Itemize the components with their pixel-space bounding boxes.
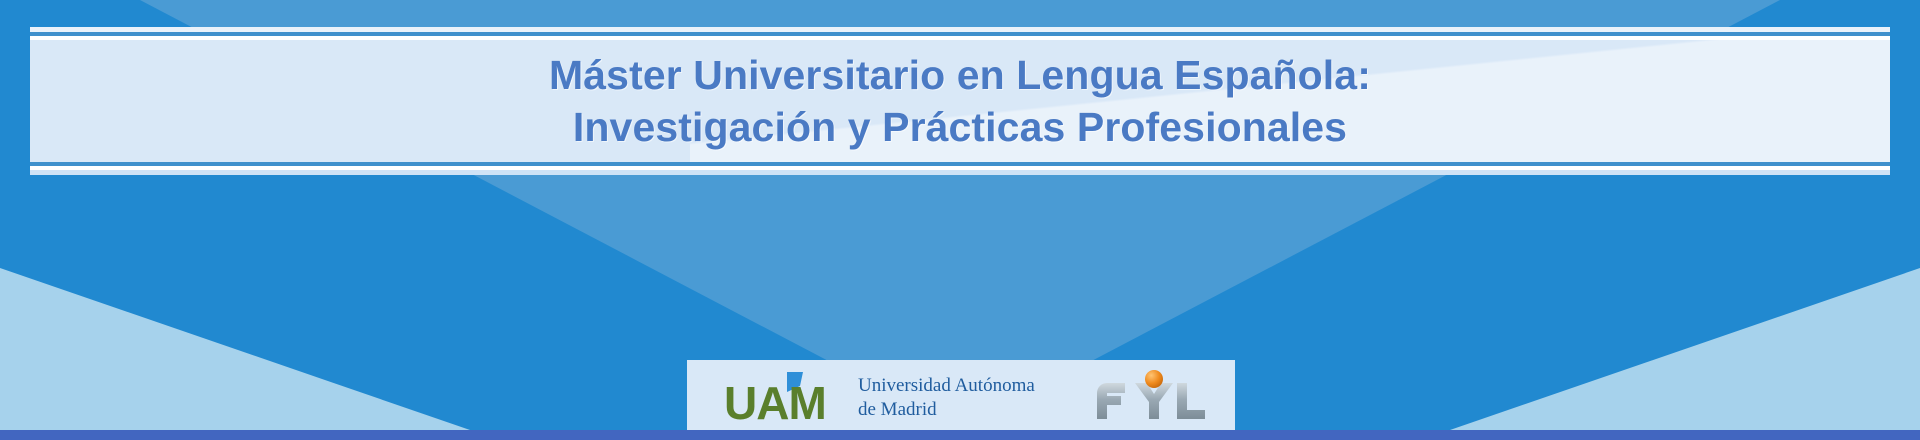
title-rule-bottom-outer <box>30 170 1890 175</box>
uam-letters: UAM <box>724 380 826 426</box>
uam-wordmark: Universidad Autónoma de Madrid <box>858 374 1035 420</box>
fyl-logo: FYL <box>1095 369 1207 427</box>
uam-logo: UAM Universidad Autónoma de Madrid <box>724 370 1035 426</box>
uam-logo-mark: UAM <box>724 370 848 426</box>
logo-plate: UAM Universidad Autónoma de Madrid <box>687 360 1235 435</box>
page-title: Máster Universitario en Lengua Española:… <box>549 49 1371 154</box>
bottom-accent-bar <box>0 430 1920 440</box>
title-slide: Máster Universitario en Lengua Española:… <box>0 0 1920 440</box>
title-plate: Máster Universitario en Lengua Española:… <box>30 27 1890 175</box>
title-body: Máster Universitario en Lengua Española:… <box>30 40 1890 162</box>
fyl-logo-icon: FYL <box>1095 369 1207 427</box>
fyl-logo-text: FYL <box>1095 369 1124 373</box>
